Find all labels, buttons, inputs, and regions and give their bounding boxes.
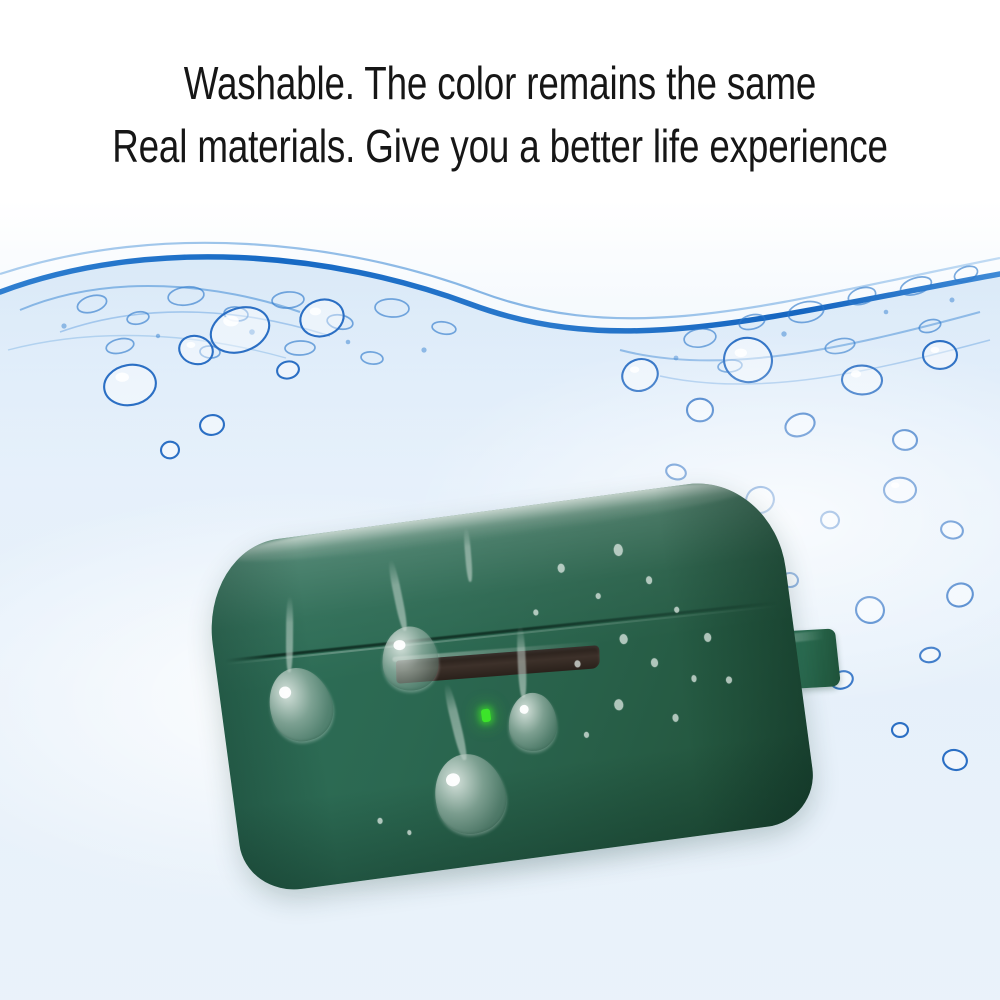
product-case: [200, 470, 844, 918]
droplet-trail: [286, 596, 294, 672]
water-speck: [584, 732, 590, 739]
water-speck: [650, 658, 658, 668]
droplet-trail: [442, 683, 469, 761]
headline-line-2: Real materials. Give you a better life e…: [100, 114, 900, 178]
headline-line-1: Washable. The color remains the same: [100, 52, 900, 114]
water-droplet: [508, 693, 557, 751]
water-speck: [672, 714, 679, 723]
water-speck: [614, 699, 624, 711]
led-indicator: [481, 708, 492, 722]
product-banner: Washable. The color remains the same Rea…: [0, 0, 1000, 1000]
headline-block: Washable. The color remains the same Rea…: [0, 52, 1000, 178]
